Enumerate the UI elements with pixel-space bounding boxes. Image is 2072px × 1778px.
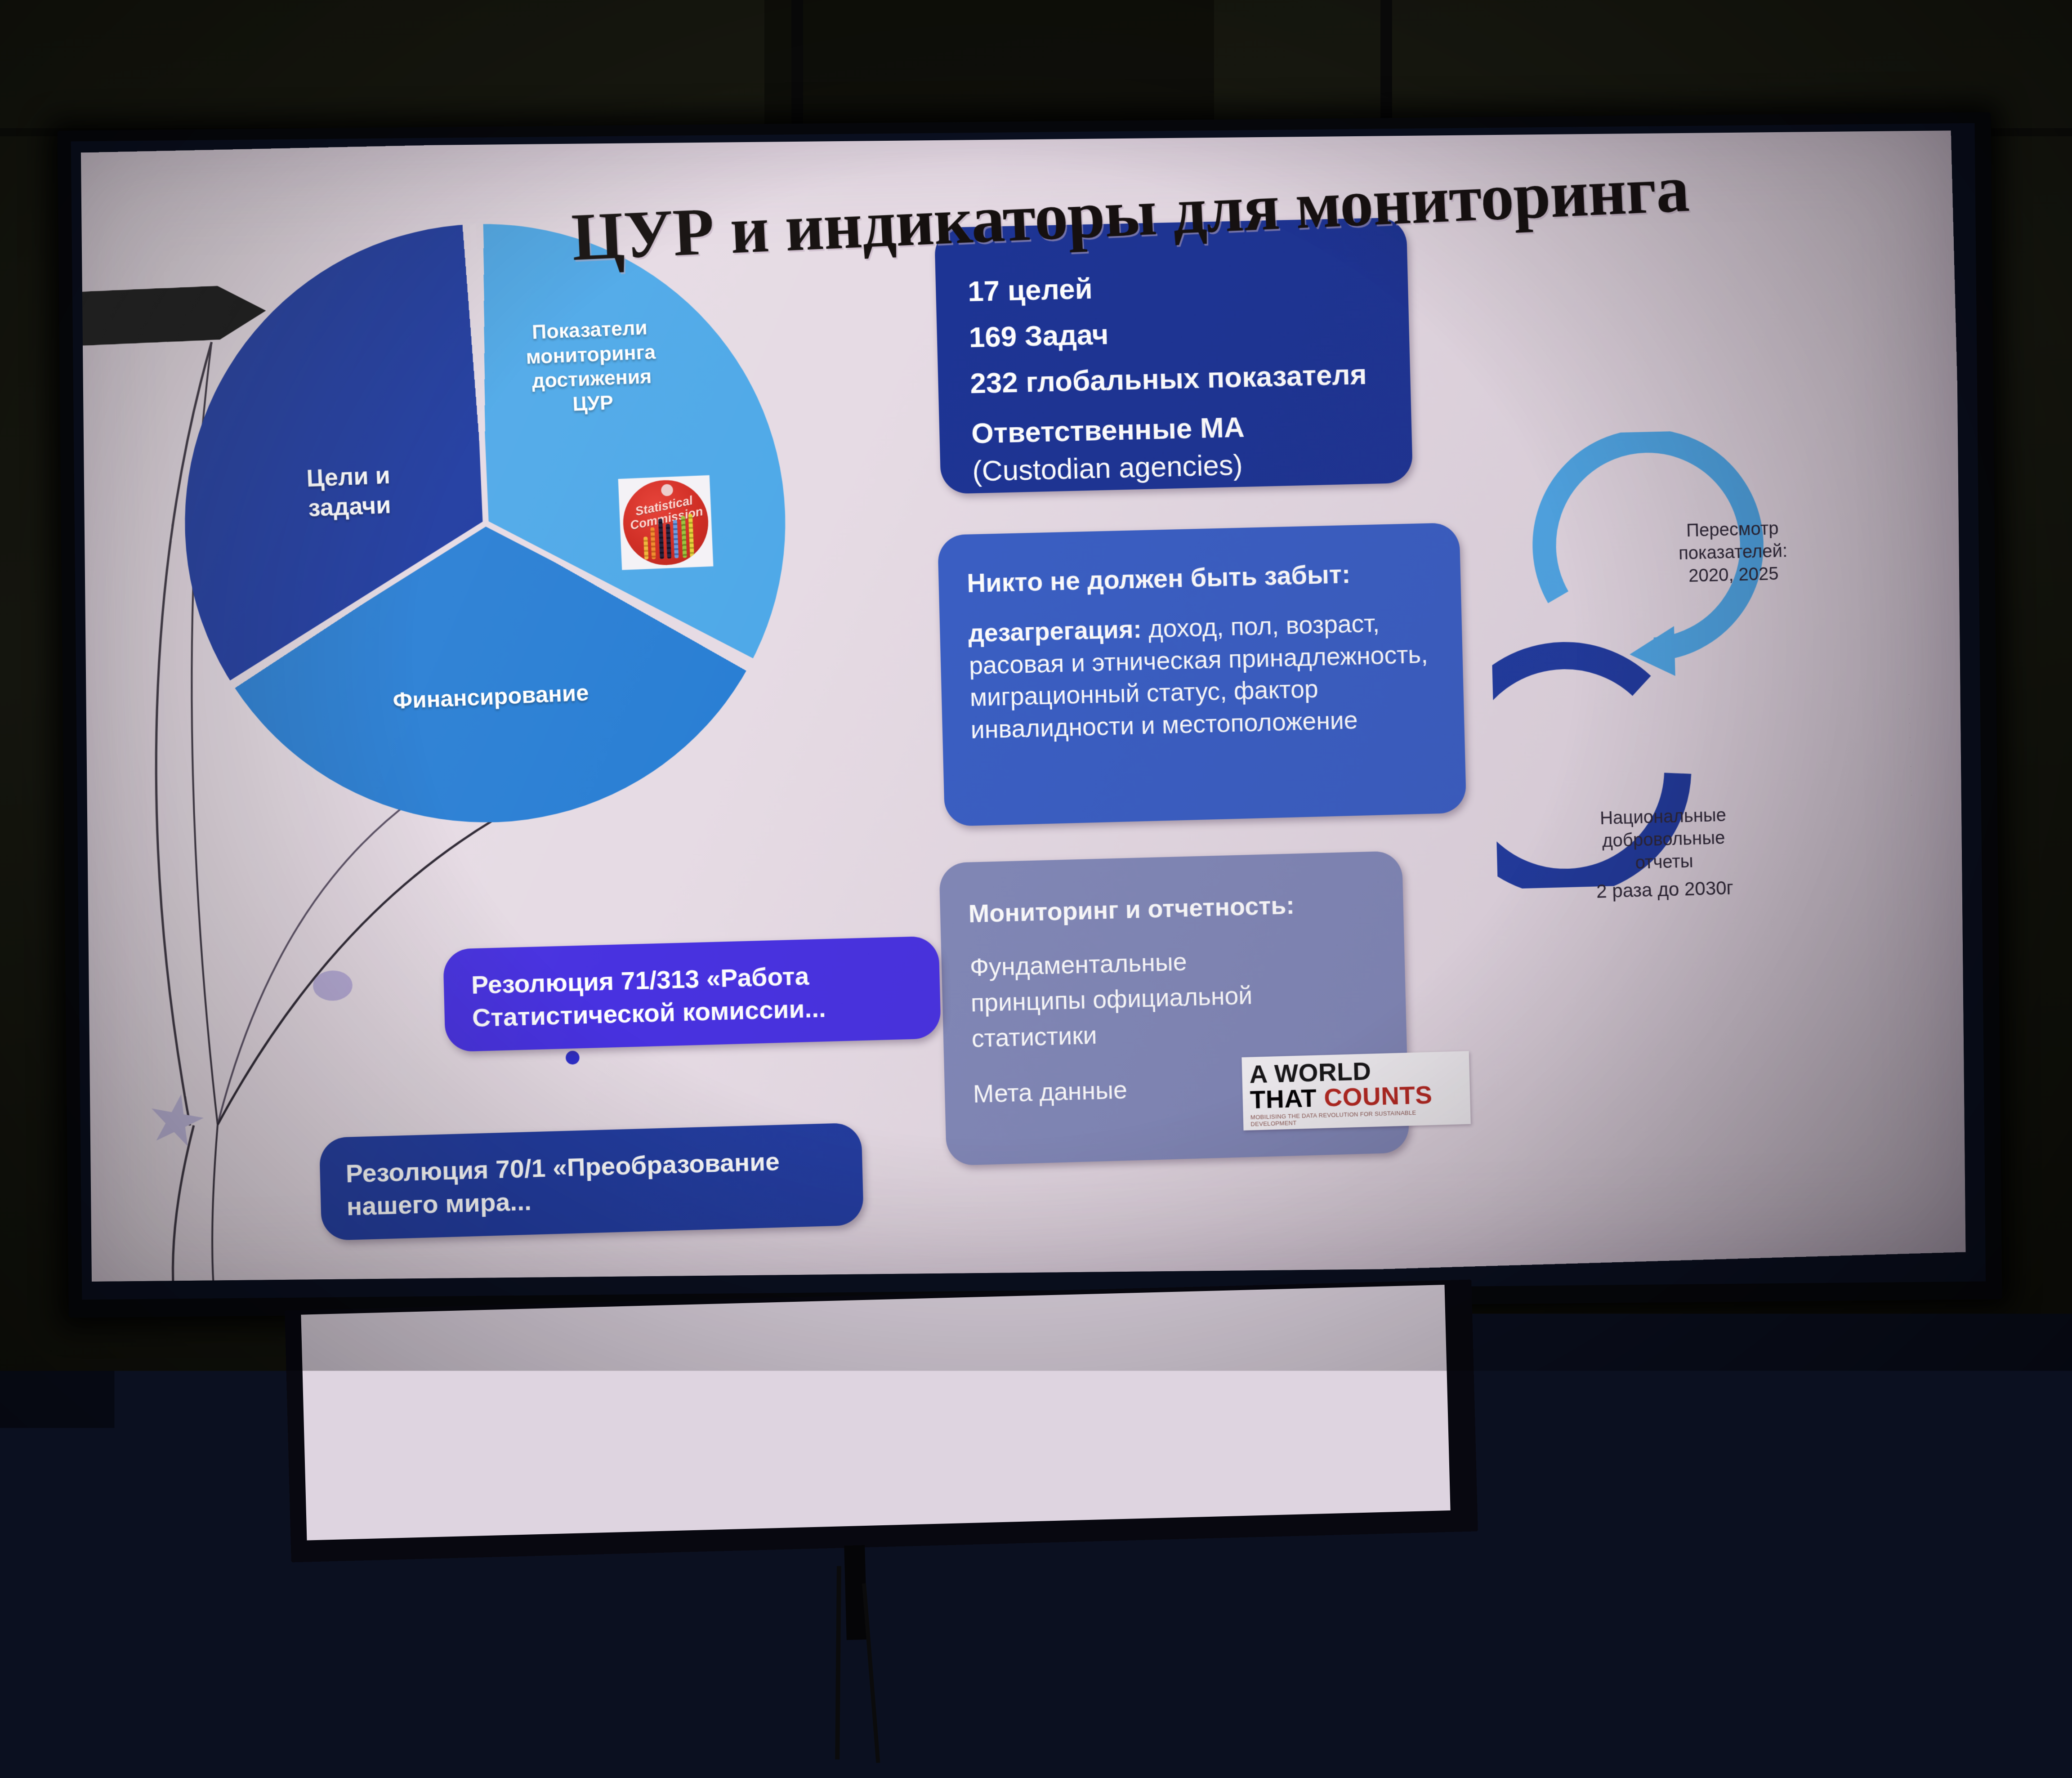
a-world-that-counts-logo: A WORLD THAT COUNTS MOBILISING THE DATA … [1241,1051,1470,1130]
black-arrow-pointer [81,284,267,347]
badge-circle-icon: Statistical Commission [621,478,710,567]
resolution-70-1-box: Резолюция 70/1 «Преобразование нашего ми… [319,1122,864,1241]
pie-label-indicators: Показатели мониторинга достижения ЦУР [493,314,689,420]
slide-viewport: Цели и задачи Показатели мониторинга дос… [81,130,1966,1282]
presentation-screen: Цели и задачи Показатели мониторинга дос… [57,112,2002,1318]
national-reports-sublabel: 2 раза до 2030г [1565,875,1764,904]
review-cycle-label: Пересмотр показателей: 2020, 2025 [1633,516,1833,589]
disaggregation-heading: Никто не должен быть забыт: [967,557,1433,599]
cable-1 [835,1566,841,1760]
badge-globe-icon [661,484,673,496]
monitoring-heading: Мониторинг и отчетность: [968,888,1375,929]
national-reports-label: Национальные добровольные отчеты [1563,803,1764,876]
facts-box: 17 целей 169 Задач 232 глобальных показа… [934,217,1413,494]
star-decoration [144,1089,208,1153]
disaggregation-box: Никто не должен быть забыт: дезагрегация… [938,523,1466,826]
facts-line-indicators: 232 глобальных показателя [969,351,1379,407]
logo-that: THAT [1250,1083,1324,1114]
slide-canvas: Цели и задачи Показатели мониторинга дос… [81,130,1966,1282]
logo-line-2: THAT COUNTS [1250,1081,1463,1112]
resolution-71-313-text: Резолюция 71/313 «Работа Статистической … [471,957,913,1034]
pie-label-goals: Цели и задачи [251,459,447,526]
cable-2 [862,1583,880,1763]
lilac-dot-decoration [313,970,353,1001]
resolution-70-1-text: Резолюция 70/1 «Преобразование нашего ми… [345,1144,838,1223]
abacus-icon [642,514,698,559]
pie-chart: Цели и задачи Показатели мониторинга дос… [172,213,798,835]
resolution-71-313-box: Резолюция 71/313 «Работа Статистической … [443,936,941,1052]
statistical-commission-badge: Statistical Commission [618,475,714,570]
disaggregation-lead: дезагрегация: [968,615,1142,648]
logo-counts: COUNTS [1324,1080,1433,1112]
preview-monitor: Резолюция 71/313 «Работа Статистической … [285,1280,1478,1563]
preview-monitor-screen: Резолюция 71/313 «Работа Статистической … [301,1285,1450,1540]
